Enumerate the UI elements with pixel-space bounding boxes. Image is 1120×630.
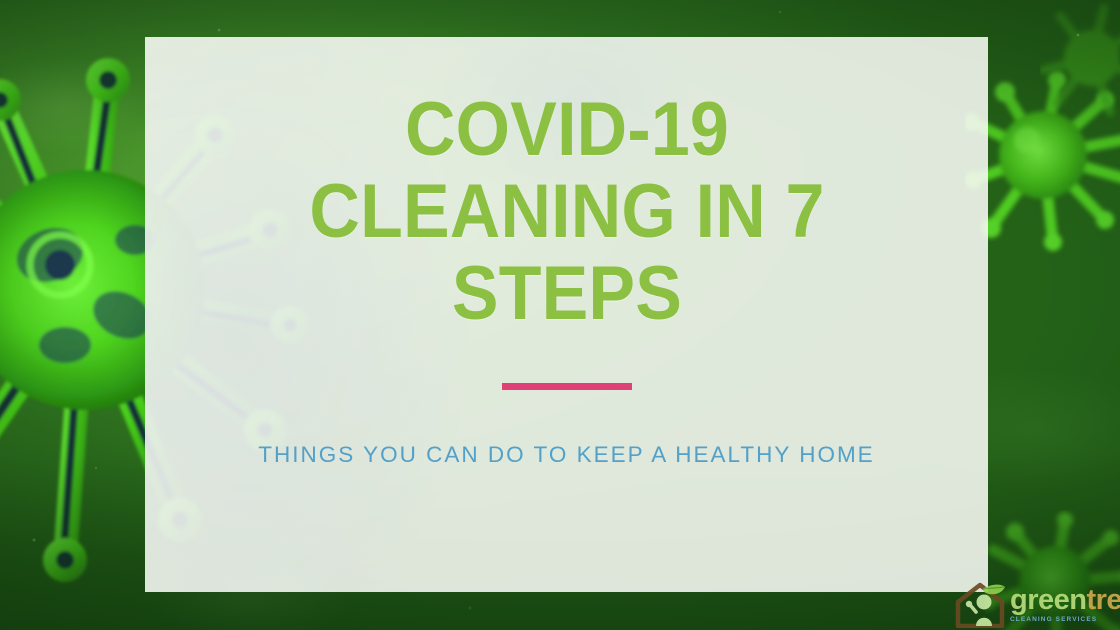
page-title: COVID-19 CLEANING IN 7 STEPS <box>263 89 870 335</box>
logo-wordmark: greentree <box>1010 586 1120 615</box>
page-subtitle: THINGS YOU CAN DO TO KEEP A HEALTHY HOME <box>258 442 874 468</box>
slide-canvas: COVID-19 CLEANING IN 7 STEPS THINGS YOU … <box>0 0 1120 630</box>
card-content: COVID-19 CLEANING IN 7 STEPS THINGS YOU … <box>145 37 988 592</box>
logo-wordmark-group: greentree CLEANING SERVICES <box>1010 586 1120 624</box>
brand-logo[interactable]: greentree CLEANING SERVICES <box>952 580 1120 630</box>
logo-tagline: CLEANING SERVICES <box>1010 617 1120 624</box>
logo-word-tree: tree <box>1086 584 1120 616</box>
title-divider <box>502 383 632 390</box>
logo-word-green: green <box>1010 584 1086 616</box>
house-with-leaf-icon <box>952 582 1008 628</box>
content-card: COVID-19 CLEANING IN 7 STEPS THINGS YOU … <box>145 37 988 592</box>
